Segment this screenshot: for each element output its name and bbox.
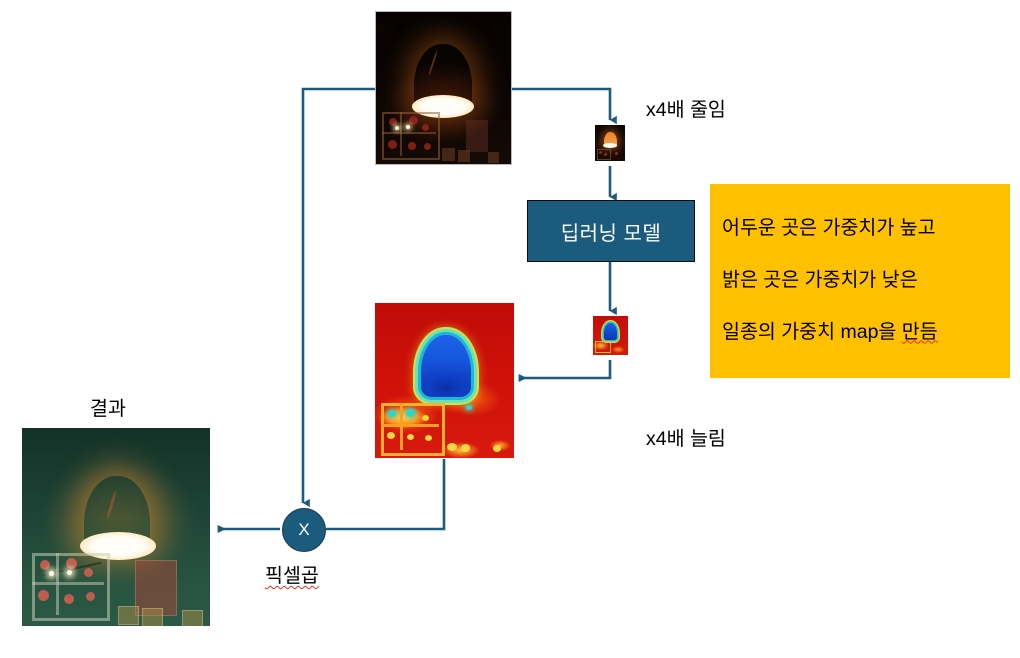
model-box-label: 딥러닝 모델 [561,217,662,246]
diagram-canvas: 딥러닝 모델 어두운 곳은 가중치가 높고 밝은 곳은 가중치가 낮은 일종의 … [0,0,1020,658]
pixel-multiply-node[interactable]: X [282,508,326,552]
callout-line-2: 밝은 곳은 가중치가 낮은 [722,268,1000,294]
weight-map-heatmap [375,303,514,458]
original-low-light-photo [375,11,512,165]
label-downscale: x4배 줄임 [646,93,726,122]
downscaled-thumbnail [595,125,625,161]
deep-learning-model-box[interactable]: 딥러닝 모델 [527,200,695,262]
label-pixel-multiply: 픽셀곱 [265,559,319,588]
weight-map-thumbnail [593,316,628,355]
callout-line-3-misspelled: 만듬 [902,321,938,343]
label-result: 결과 [90,392,126,421]
result-photo [22,428,210,626]
multiply-symbol: X [298,520,309,540]
callout-line-1: 어두운 곳은 가중치가 높고 [722,216,1000,242]
weight-map-callout: 어두운 곳은 가중치가 높고 밝은 곳은 가중치가 낮은 일종의 가중치 map… [710,184,1010,378]
callout-line-3-text: 일종의 가중치 map을 [722,321,902,343]
label-upscale: x4배 늘림 [646,422,726,451]
callout-line-3: 일종의 가중치 map을 만듬 [722,320,1000,346]
